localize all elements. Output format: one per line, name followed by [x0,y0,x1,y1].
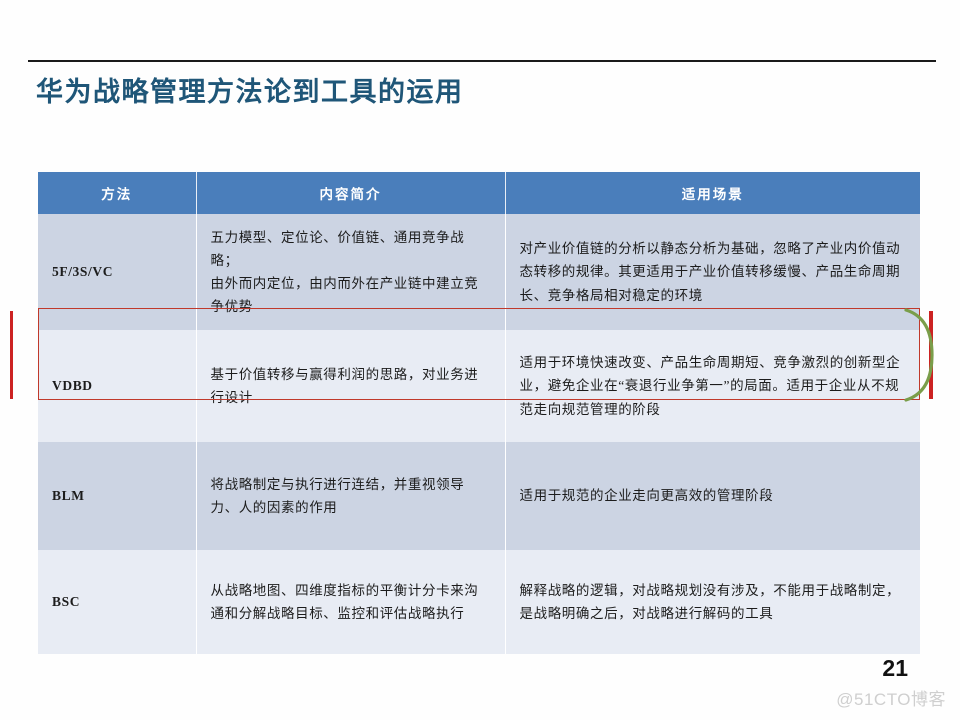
column-header-method: 方法 [38,172,196,214]
cell-method: BLM [38,442,196,550]
table-row-highlighted: VDBD 基于价值转移与赢得利润的思路，对业务进行设计 适用于环境快速改变、产品… [38,330,920,442]
cell-method: 5F/3S/VC [38,214,196,330]
cell-scenario: 适用于环境快速改变、产品生命周期短、竞争激烈的创新型企业，避免企业在“衰退行业争… [505,330,920,442]
page-number: 21 [882,655,908,682]
watermark: @51CTO博客 [836,685,946,710]
column-header-scenario: 适用场景 [505,172,920,214]
cell-scenario: 解释战略的逻辑，对战略规划没有涉及，不能用于战略制定，是战略明确之后，对战略进行… [505,550,920,654]
table-row: 5F/3S/VC 五力模型、定位论、价值链、通用竞争战略； 由外而内定位，由内而… [38,214,920,330]
right-emphasis-bar [929,311,933,399]
cell-scenario: 对产业价值链的分析以静态分析为基础，忽略了产业内价值动态转移的规律。其更适用于产… [505,214,920,330]
cell-method: VDBD [38,330,196,442]
cell-summary: 从战略地图、四维度指标的平衡计分卡来沟通和分解战略目标、监控和评估战略执行 [196,550,505,654]
cell-summary: 基于价值转移与赢得利润的思路，对业务进行设计 [196,330,505,442]
page-title: 华为战略管理方法论到工具的运用 [36,70,464,109]
title-divider-rule [28,60,936,62]
column-header-summary: 内容简介 [196,172,505,214]
cell-summary: 五力模型、定位论、价值链、通用竞争战略； 由外而内定位，由内而外在产业链中建立竞… [196,214,505,330]
slide-canvas: 华为战略管理方法论到工具的运用 方法 内容简介 适用场景 5F/3S/VC 五力… [0,0,960,720]
cell-method: BSC [38,550,196,654]
cell-scenario: 适用于规范的企业走向更高效的管理阶段 [505,442,920,550]
table-header: 方法 内容简介 适用场景 [38,172,920,214]
table-body: 5F/3S/VC 五力模型、定位论、价值链、通用竞争战略； 由外而内定位，由内而… [38,214,920,654]
methodology-comparison-table: 方法 内容简介 适用场景 5F/3S/VC 五力模型、定位论、价值链、通用竞争战… [38,172,920,654]
table-row: BLM 将战略制定与执行进行连结，并重视领导力、人的因素的作用 适用于规范的企业… [38,442,920,550]
left-emphasis-bar [10,311,13,399]
table-row: BSC 从战略地图、四维度指标的平衡计分卡来沟通和分解战略目标、监控和评估战略执… [38,550,920,654]
cell-summary: 将战略制定与执行进行连结，并重视领导力、人的因素的作用 [196,442,505,550]
table-header-row: 方法 内容简介 适用场景 [38,172,920,214]
